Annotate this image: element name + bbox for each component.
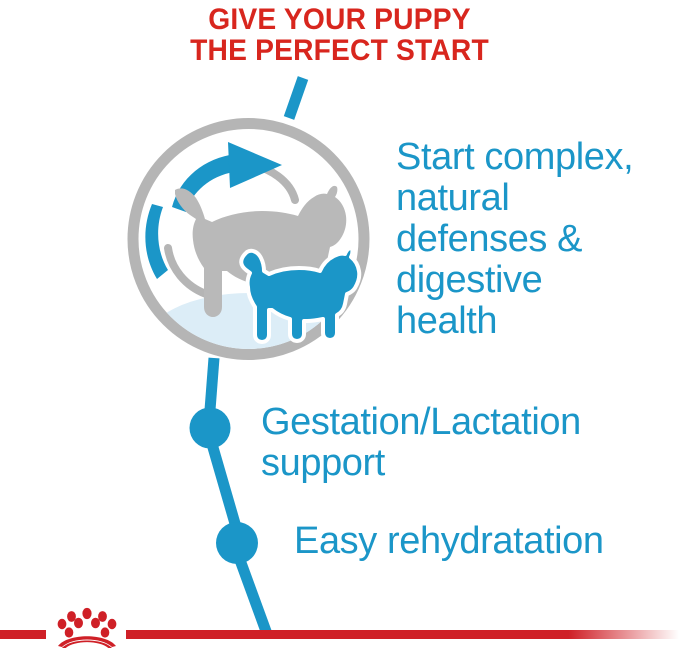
- crown-dot: [65, 627, 74, 637]
- feature-text-gestation-lactation: Gestation/Lactation support: [261, 402, 679, 484]
- connector-segment-top: [289, 78, 303, 118]
- connector-segment-3: [240, 560, 267, 634]
- connector-node-1: [190, 408, 231, 449]
- crown-dot: [58, 619, 67, 629]
- feature-text-start-complex: Start complex, natural defenses & digest…: [396, 137, 679, 342]
- crown-dot: [82, 608, 91, 619]
- crown-dot: [108, 619, 117, 629]
- crown-dot: [91, 618, 100, 629]
- crown-dot: [98, 611, 107, 622]
- crown-dot: [74, 618, 83, 629]
- connector-segment-2: [212, 444, 236, 527]
- feature-text-easy-rehydratation: Easy rehydratation: [294, 521, 679, 562]
- footer-rule-left: [0, 630, 46, 639]
- crown-dot: [67, 611, 76, 622]
- connector-node-2: [216, 522, 258, 564]
- royal-canin-crown-logo: [46, 604, 128, 648]
- promo-banner: GIVE YOUR PUPPY THE PERFECT START: [0, 0, 679, 659]
- crown-dot: [101, 627, 110, 637]
- footer-rule-right: [126, 630, 679, 639]
- connector-segment-1: [210, 358, 214, 410]
- adult-dog-and-puppy-circle-icon: [133, 124, 364, 398]
